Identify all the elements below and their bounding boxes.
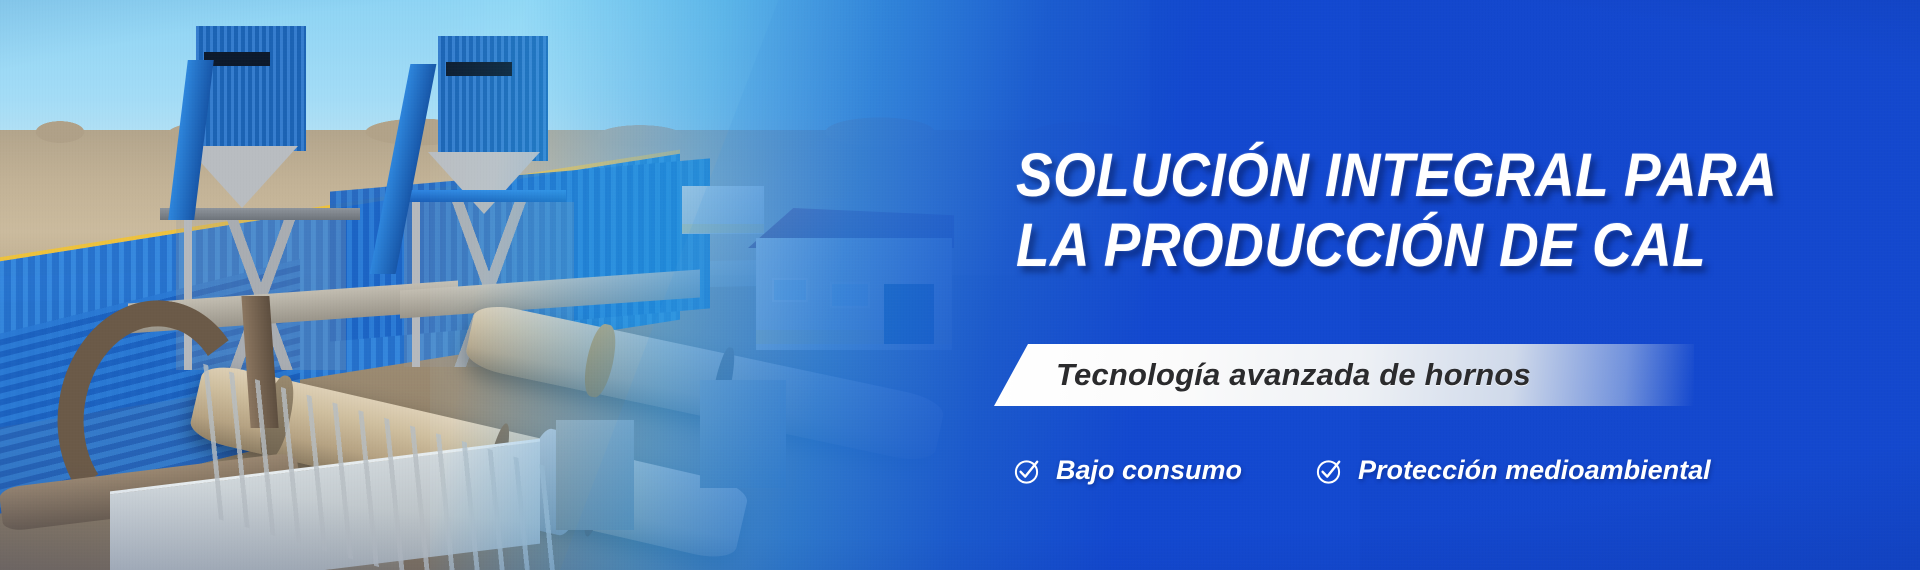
check-circle-icon (1012, 456, 1042, 486)
hero-banner: SOLUCIÓN INTEGRAL PARA LA PRODUCCIÓN DE … (0, 0, 1920, 570)
subtitle-ribbon: Tecnología avanzada de hornos (994, 344, 1694, 406)
banner-content: SOLUCIÓN INTEGRAL PARA LA PRODUCCIÓN DE … (1016, 0, 1920, 570)
feature-list: Bajo consumo Protección medioambiental (1012, 455, 1711, 486)
feature-item-bajo-consumo: Bajo consumo (1012, 455, 1242, 486)
headline-line-2: LA PRODUCCIÓN DE CAL (1016, 210, 1808, 280)
headline: SOLUCIÓN INTEGRAL PARA LA PRODUCCIÓN DE … (1016, 140, 1808, 280)
feature-item-proteccion-medioambiental: Protección medioambiental (1314, 455, 1711, 486)
subtitle-text: Tecnología avanzada de hornos (1056, 357, 1531, 393)
check-circle-icon (1314, 456, 1344, 486)
feature-label: Bajo consumo (1056, 455, 1242, 486)
headline-line-1: SOLUCIÓN INTEGRAL PARA (1016, 140, 1808, 210)
feature-label: Protección medioambiental (1358, 455, 1711, 486)
